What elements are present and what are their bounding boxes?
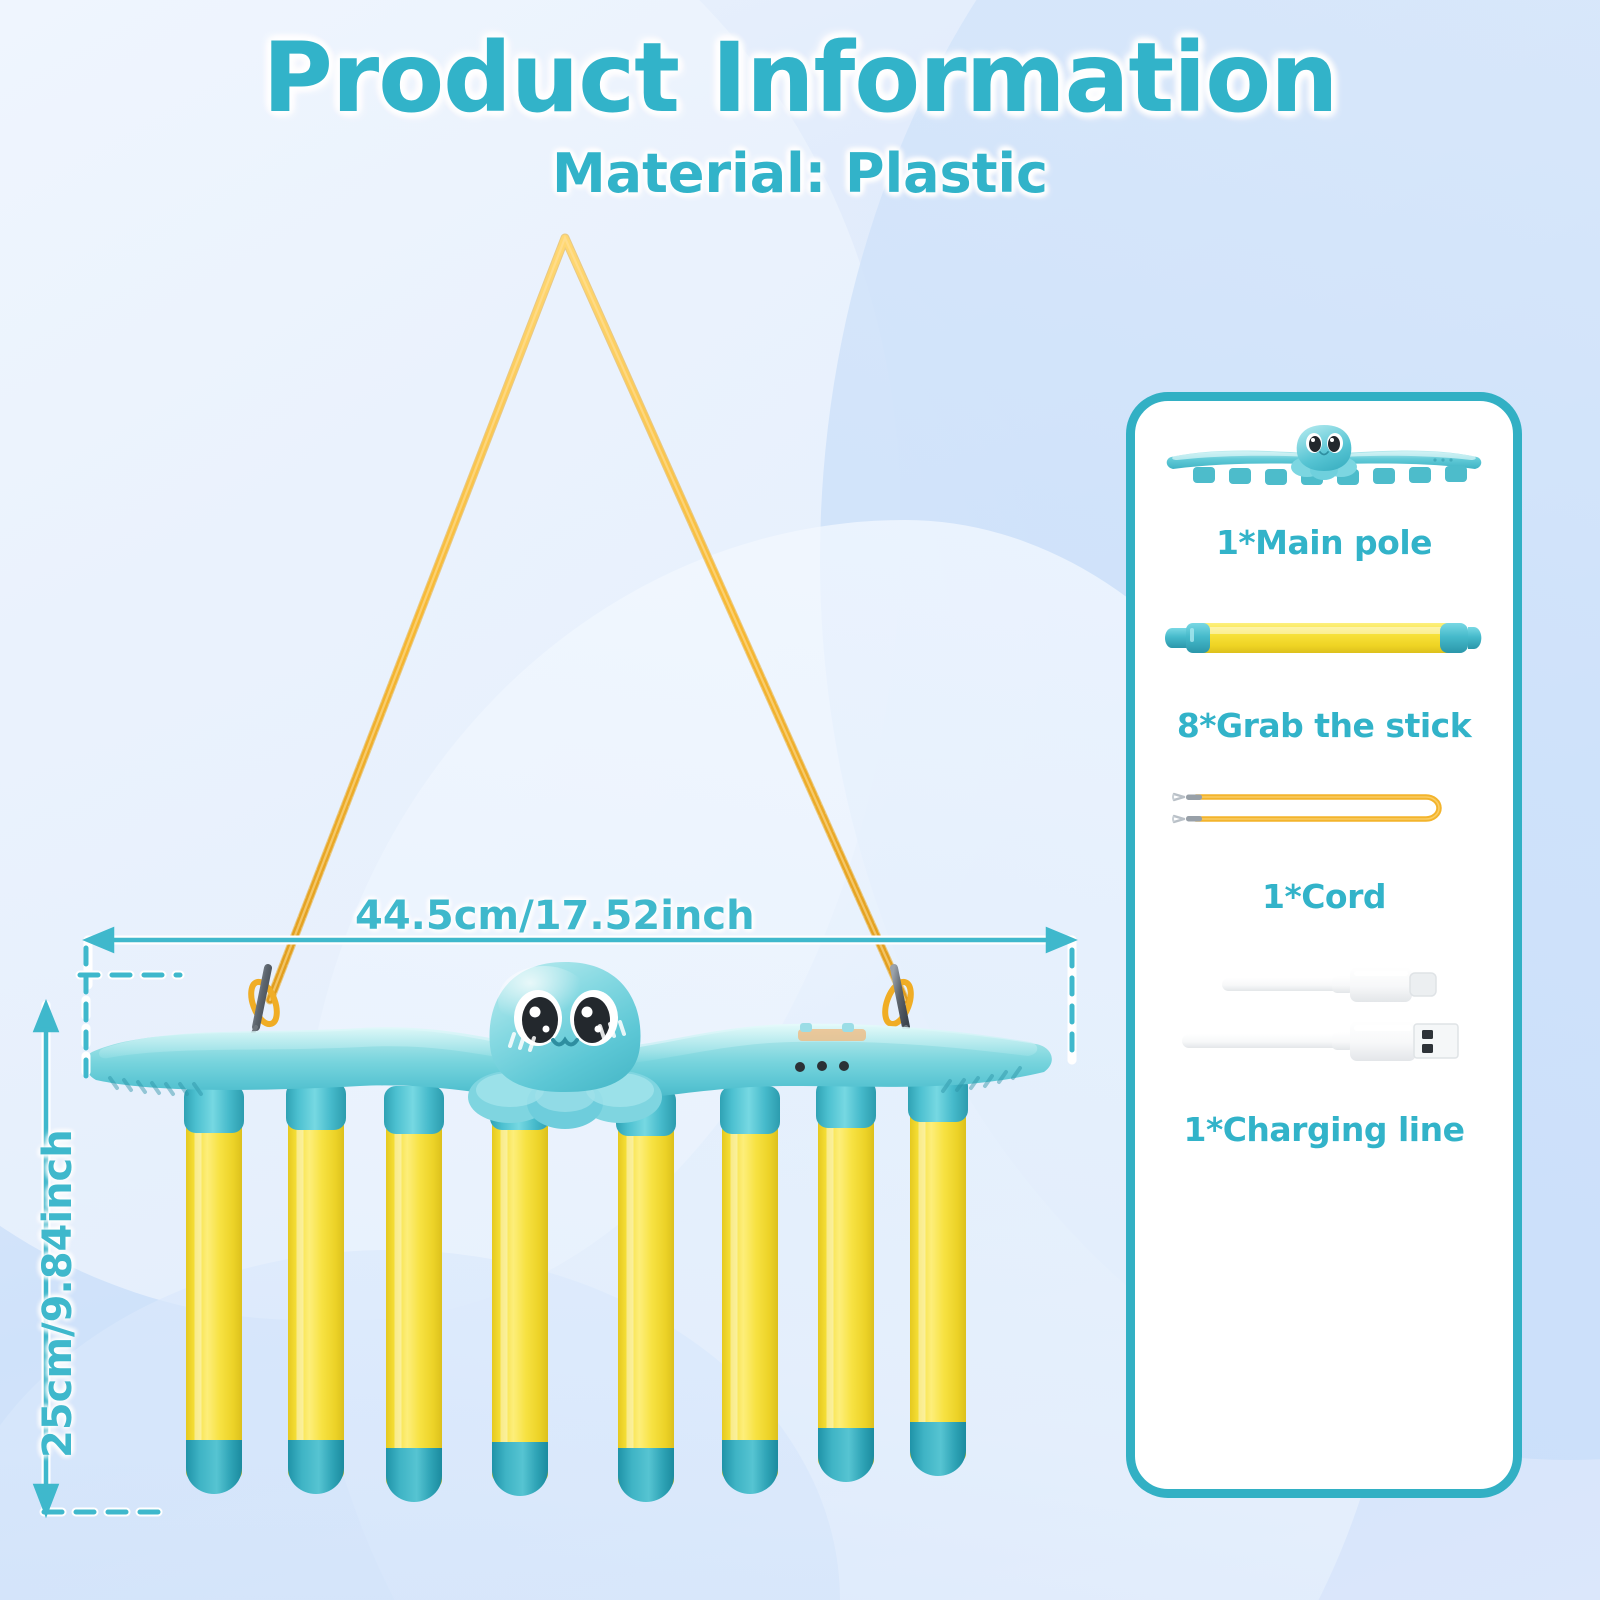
page-title: Product Information (0, 22, 1600, 134)
hanging-cord (270, 238, 905, 1000)
grab-stick (490, 1082, 550, 1496)
cord-icon (1164, 785, 1484, 831)
width-dimension-label: 44.5cm/17.52inch (355, 893, 755, 939)
main-pole-image (1135, 419, 1513, 497)
parts-list-panel: 1*Main pole 8*Grab the stick (1126, 392, 1522, 1498)
grab-stick (184, 1085, 244, 1494)
height-dimension-label: 25cm/9.84inch (35, 1158, 81, 1458)
grab-stick (720, 1086, 780, 1494)
parts-item-label-charging-line: 1*Charging line (1135, 1110, 1513, 1149)
parts-item-label-main-pole: 1*Main pole (1135, 523, 1513, 562)
parts-item-label-cord: 1*Cord (1135, 877, 1513, 916)
charging-cable-icon (1164, 956, 1484, 1076)
main-pole-icon (1159, 419, 1489, 497)
product-svg (0, 0, 1120, 1600)
product-illustration: 44.5cm/17.52inch 25cm/9.84inch (0, 0, 1120, 1600)
grab-sticks-group (184, 1074, 968, 1502)
cord-image (1135, 785, 1513, 831)
grab-stick (286, 1082, 346, 1494)
parts-item-label-grab-stick: 8*Grab the stick (1135, 706, 1513, 745)
grab-stick (816, 1080, 876, 1482)
header: Product Information Material: Plastic (0, 22, 1600, 205)
grab-stick-icon (1164, 616, 1484, 660)
page-subtitle: Material: Plastic (0, 142, 1600, 205)
charging-cable-image (1135, 956, 1513, 1076)
grab-stick (616, 1088, 676, 1502)
grab-stick (384, 1086, 444, 1502)
grab-stick-image (1135, 616, 1513, 660)
octopus-head (468, 962, 662, 1129)
grab-stick (908, 1074, 968, 1476)
